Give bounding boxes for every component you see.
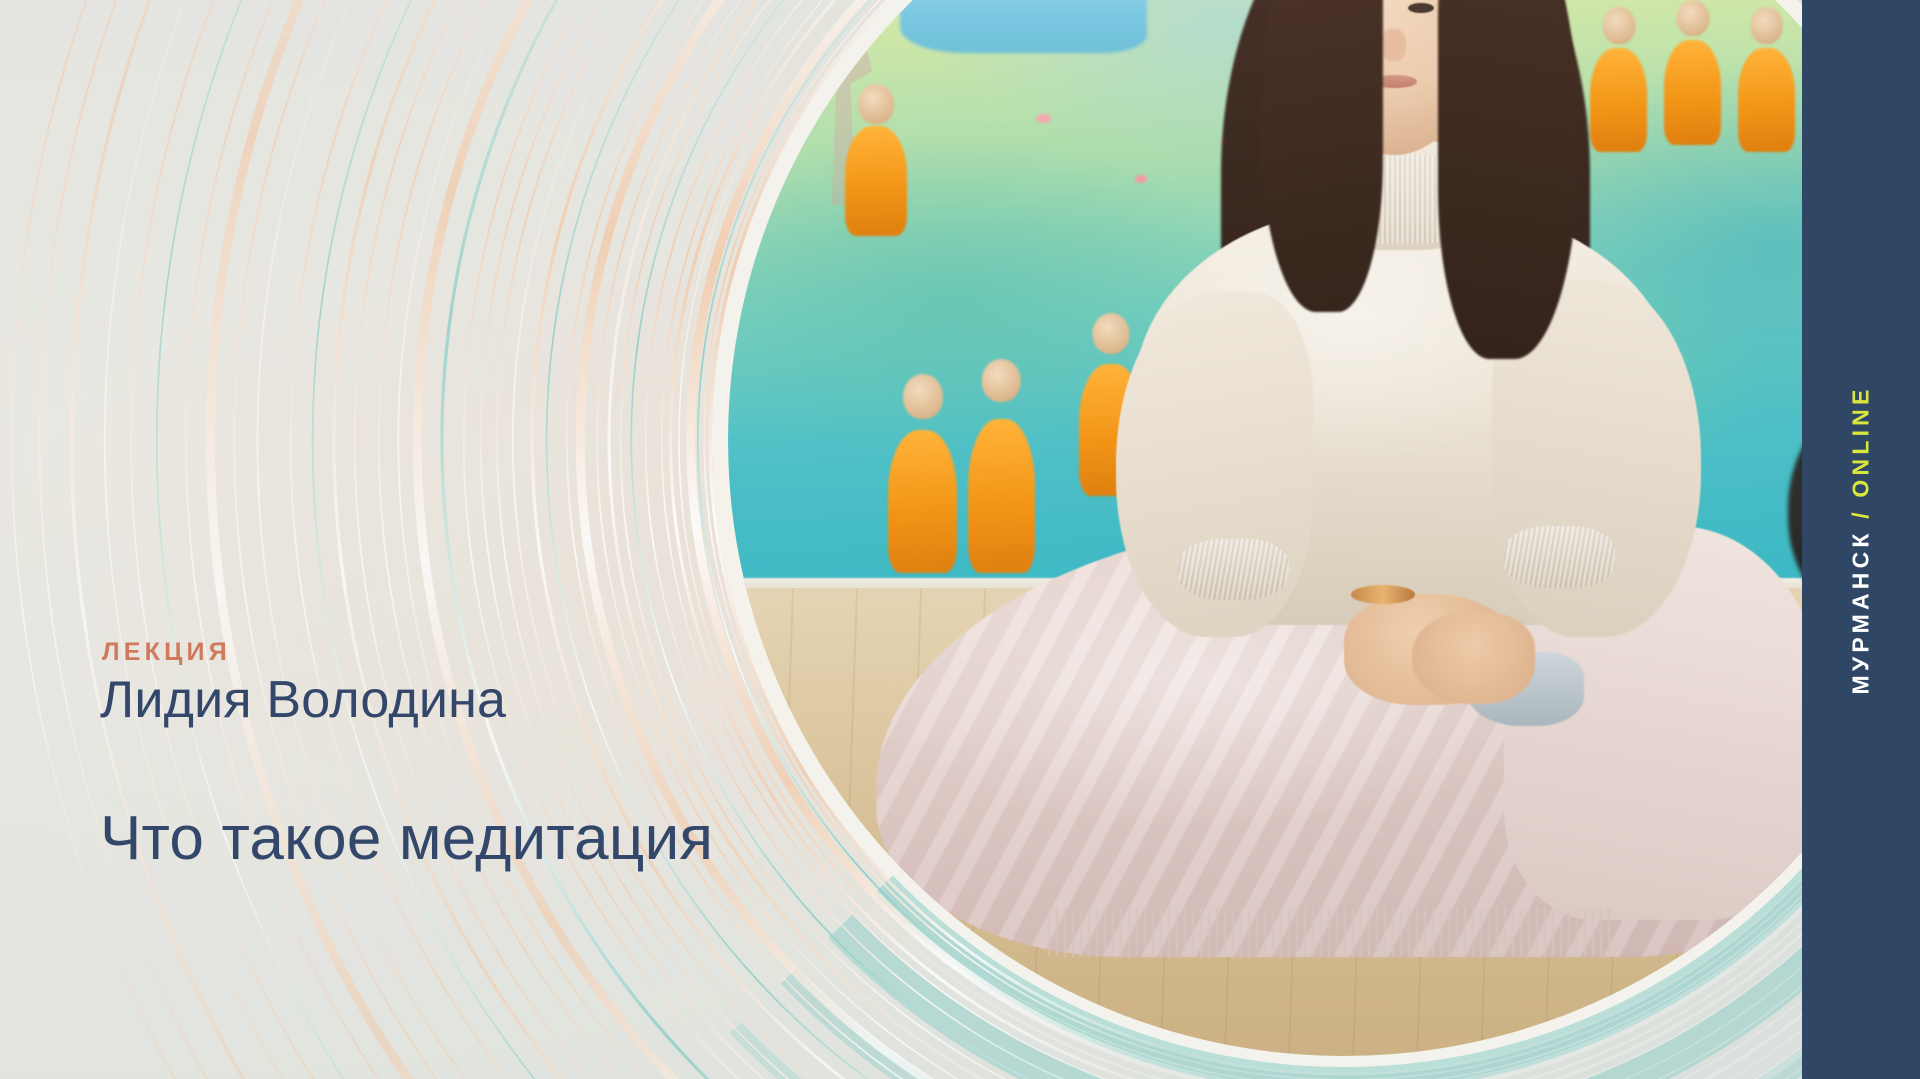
- blanket-fringe: [1048, 908, 1615, 957]
- sidebar-brand-text: МУРМАНСК / ONLINE: [1848, 385, 1875, 694]
- speaker-name: Лидия Володина: [100, 671, 506, 729]
- eye: [1408, 3, 1434, 13]
- sidebar-city-label: МУРМАНСК: [1848, 529, 1874, 694]
- sleeve-cuff-right: [1504, 526, 1615, 588]
- photo-content: [728, 0, 1920, 1056]
- brand-sidebar: МУРМАНСК / ONLINE: [1802, 0, 1920, 1079]
- bracelet: [1351, 585, 1415, 603]
- lecture-announcement-slide: МУРМАНСК / ONLINE ЛЕКЦИЯ Лидия Володина …: [0, 0, 1920, 1079]
- nose: [1381, 29, 1406, 61]
- sidebar-separator: /: [1848, 508, 1874, 519]
- page-title: Что такое медитация: [100, 805, 713, 873]
- lecture-kicker: ЛЕКЦИЯ: [102, 640, 506, 665]
- hand-upper: [1412, 612, 1535, 703]
- speaker-photo: [728, 0, 1920, 1056]
- meditating-woman: [728, 0, 1920, 1056]
- hair-strand-left: [1260, 0, 1383, 312]
- sleeve-cuff-left: [1178, 539, 1289, 601]
- sidebar-mode-label: ONLINE: [1848, 385, 1874, 497]
- speaker-block: ЛЕКЦИЯ Лидия Володина: [100, 640, 506, 729]
